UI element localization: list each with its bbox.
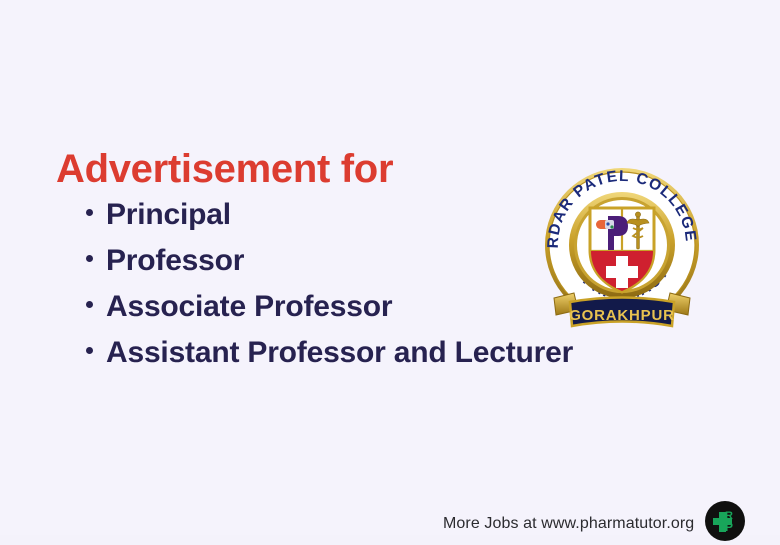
list-item: Professor xyxy=(86,244,573,290)
bullet-icon xyxy=(86,255,93,262)
job-title: Principal xyxy=(106,198,231,232)
svg-text:P: P xyxy=(725,520,733,534)
list-item: Assistant Professor and Lecturer xyxy=(86,336,573,382)
job-list: Principal Professor Associate Professor … xyxy=(86,198,573,382)
poster-canvas: Advertisement for Principal Professor As… xyxy=(0,0,780,535)
page-title: Advertisement for xyxy=(56,146,393,192)
list-item: Principal xyxy=(86,198,573,244)
footer: More Jobs at www.pharmatutor.org R P xyxy=(443,503,746,545)
bullet-icon xyxy=(86,347,93,354)
seal-banner-text: GORAKHPUR xyxy=(569,307,675,324)
seal-banner: GORAKHPUR xyxy=(569,298,675,327)
footer-credit-text: More Jobs at www.pharmatutor.org xyxy=(443,515,694,533)
job-title: Associate Professor xyxy=(106,290,392,324)
list-item: Associate Professor xyxy=(86,290,573,336)
bullet-icon xyxy=(86,209,93,216)
job-title: Professor xyxy=(106,244,244,278)
job-title: Assistant Professor and Lecturer xyxy=(106,336,573,370)
bullet-icon xyxy=(86,301,93,308)
pharmatutor-logo-icon[interactable]: R P xyxy=(704,500,746,542)
college-seal-logo: SARDAR PATEL COLLEGE OF • PHARMACY xyxy=(540,150,705,340)
